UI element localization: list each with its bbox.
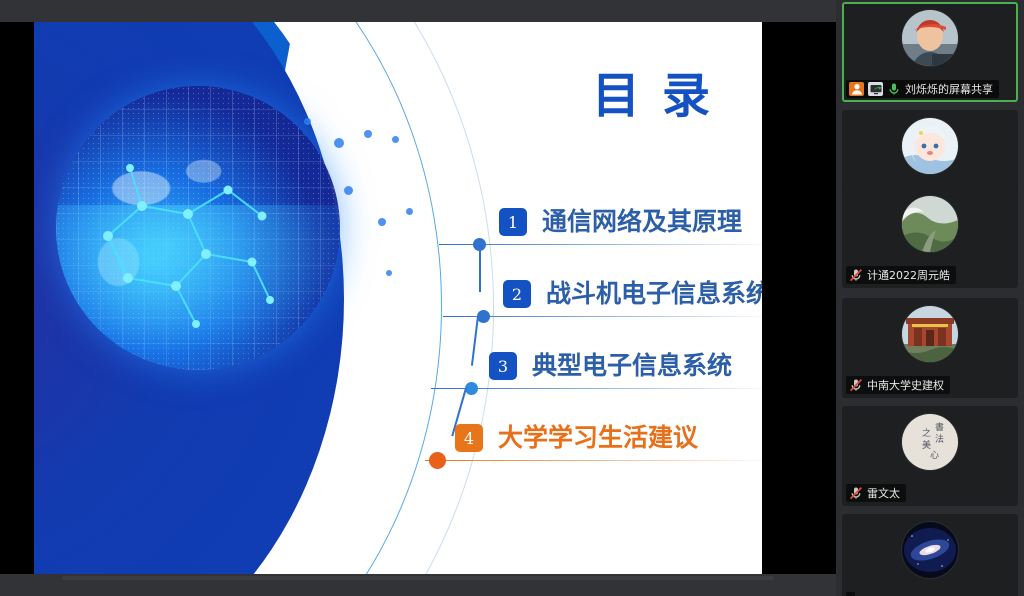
landscape-photo-icon [902,196,958,252]
toc-dot-3 [465,382,478,395]
toc-badge-2: 2 [503,280,531,308]
participant-name: 中南大学史建权 [867,377,944,393]
screen-share-icon [868,82,883,96]
svg-text:之: 之 [922,427,931,439]
toc-badge-1: 1 [499,208,527,236]
microphone-muted-icon [849,268,863,282]
anime-character-photo-icon [902,118,958,174]
toc-badge-3: 3 [489,352,517,380]
participant-tile[interactable]: 刘烁烁的屏幕共享 [842,2,1018,102]
participant-name: 雷文太 [867,485,900,501]
slide-canvas: 目录 1 通信网络及其原理 2 战斗机电子信息系统 [34,22,762,574]
toc-list: 1 通信网络及其原理 2 战斗机电子信息系统 [439,200,762,500]
share-toolbar-strip [0,0,836,22]
halo-dot [378,218,386,226]
svg-text:書: 書 [935,421,944,433]
toc-rule-3 [431,388,762,389]
avatar [902,522,958,578]
nameplate [846,592,855,596]
participant-rail[interactable]: 刘烁烁的屏幕共享 [836,0,1024,596]
monitor-glyph [869,82,883,96]
participant-tile[interactable]: 書法 之美 心 雷文太 [842,406,1018,506]
participant-tile[interactable]: 计通2022周元皓 [842,188,1018,288]
avatar [902,196,958,252]
halo-dot [406,208,413,215]
toc-item-2[interactable]: 2 战斗机电子信息系统 [439,272,762,328]
toc-rule-1 [439,244,762,245]
svg-text:美: 美 [922,439,931,451]
toc-dot-4 [429,452,446,469]
presentation-slide: 目录 1 通信网络及其原理 2 战斗机电子信息系统 [34,22,762,574]
toc-dot-2 [477,310,490,323]
nameplate: 中南大学史建权 [846,376,950,394]
participant-name: 计通2022周元皓 [867,267,950,283]
slide-title: 目录 [592,56,732,126]
toc-label-4: 大学学习生活建议 [498,418,698,454]
microphone-muted-icon [849,486,863,500]
toc-item-3[interactable]: 3 典型电子信息系统 [439,344,762,400]
share-bottom-strip [0,574,836,596]
participant-name: 刘烁烁的屏幕共享 [905,81,993,97]
shared-screen-viewport[interactable]: 目录 1 通信网络及其原理 2 战斗机电子信息系统 [0,22,836,574]
avatar [902,306,958,362]
campus-gate-photo-icon [902,306,958,362]
participant-tile[interactable]: 中南大学史建权 [842,298,1018,398]
toc-label-1: 通信网络及其原理 [542,202,742,238]
avatar [902,10,958,66]
halo-dot [334,138,344,148]
globe-network-overlay [56,86,340,370]
galaxy-photo-icon [902,522,958,578]
toc-badge-4: 4 [455,424,483,452]
toc-item-4[interactable]: 4 大学学习生活建议 [439,416,762,472]
toc-label-3: 典型电子信息系统 [532,346,732,382]
nameplate: 雷文太 [846,484,906,502]
svg-text:法: 法 [935,433,944,445]
toc-rule-2 [443,316,762,317]
host-person-glyph [850,82,864,96]
globe-graphic [56,86,340,370]
toc-item-1[interactable]: 1 通信网络及其原理 [439,200,762,256]
person-photo-icon [902,10,958,66]
halo-dot [364,130,372,138]
nameplate: 刘烁烁的屏幕共享 [846,80,999,98]
avatar: 書法 之美 心 [902,414,958,470]
horizontal-scrollbar[interactable] [62,576,774,580]
calligraphy-photo-icon: 書法 之美 心 [902,414,958,470]
microphone-muted-icon [849,378,863,392]
toc-rule-4 [425,460,762,461]
toc-label-2: 战斗机电子信息系统 [546,274,762,310]
nameplate: 计通2022周元皓 [846,266,956,284]
halo-dot [392,136,399,143]
conference-window: 目录 1 通信网络及其原理 2 战斗机电子信息系统 [0,0,1024,596]
halo-dot [304,118,311,125]
microphone-unmuted-icon [887,82,901,96]
avatar [902,118,958,174]
halo-dot [344,186,353,195]
svg-text:心: 心 [930,450,939,461]
halo-dot [386,270,392,276]
host-badge-icon [849,82,864,96]
participant-tile[interactable] [842,514,1018,596]
